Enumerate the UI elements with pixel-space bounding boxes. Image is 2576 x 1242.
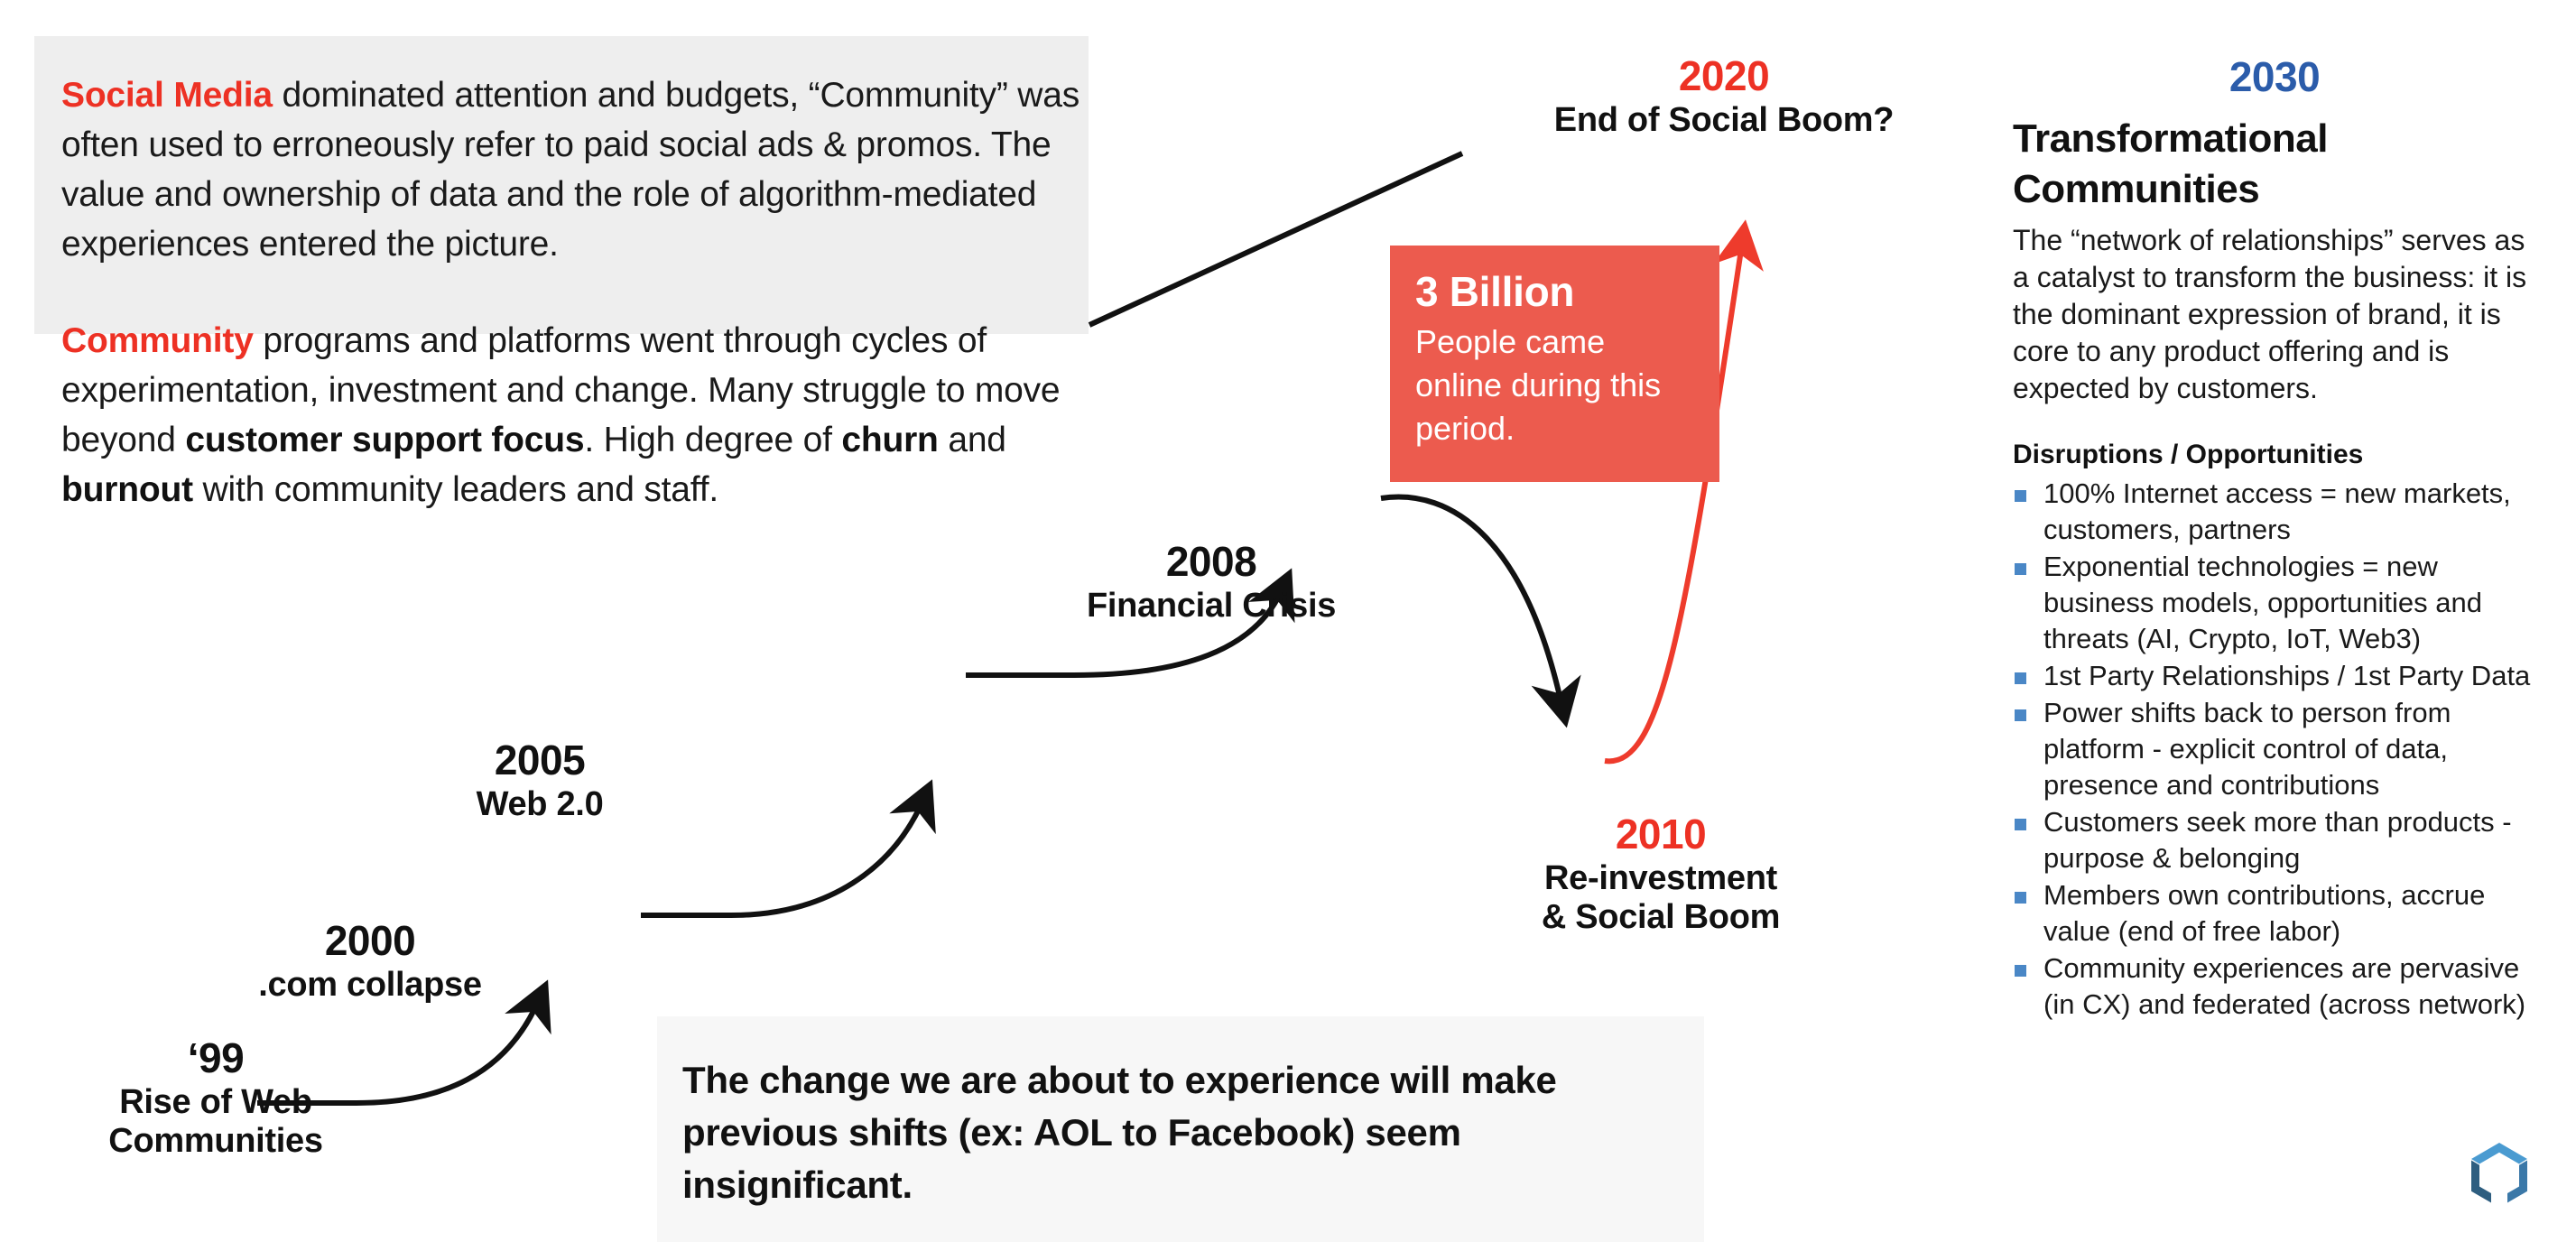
- future-title: Transformational Communities: [2013, 114, 2536, 215]
- future-column: 2030 Transformational Communities The “n…: [2013, 56, 2536, 1024]
- timeline-desc-2000: .com collapse: [117, 966, 623, 1005]
- timeline-desc-2005: Web 2.0: [287, 785, 792, 824]
- list-item-label: Community experiences are pervasive (in …: [2043, 952, 2525, 1020]
- list-item-label: Customers seek more than products - purp…: [2043, 806, 2512, 874]
- future-year-2030: 2030: [2013, 56, 2536, 97]
- list-item-label: Power shifts back to person from platfor…: [2043, 697, 2451, 801]
- timeline-desc-1999-line2: Communities: [0, 1122, 431, 1161]
- stat-value: 3 Billion: [1415, 269, 1694, 315]
- square-bullet-icon: [2015, 672, 2026, 684]
- timeline-desc-1999-line1: Rise of Web: [0, 1083, 431, 1122]
- slide-canvas: Social Media dominated attention and bud…: [0, 0, 2576, 1242]
- list-item: 100% Internet access = new markets, cust…: [2013, 476, 2536, 548]
- list-item: Customers seek more than products - purp…: [2013, 804, 2536, 876]
- timeline-node-2005: 2005 Web 2.0: [287, 738, 792, 824]
- narrative-paragraph-social-media: Social Media dominated attention and bud…: [61, 70, 1108, 269]
- list-item-label: Members own contributions, accrue value …: [2043, 879, 2485, 947]
- narrative-para2-seg3: and: [939, 421, 1006, 459]
- timeline-year-2005: 2005: [287, 738, 792, 782]
- timeline-desc-2008: Financial Crisis: [959, 587, 1464, 626]
- list-item: Community experiences are pervasive (in …: [2013, 950, 2536, 1023]
- square-bullet-icon: [2015, 965, 2026, 977]
- timeline-year-2020: 2020: [1471, 54, 1977, 97]
- future-bullet-list: 100% Internet access = new markets, cust…: [2013, 476, 2536, 1023]
- square-bullet-icon: [2015, 819, 2026, 830]
- list-item: Exponential technologies = new business …: [2013, 549, 2536, 657]
- list-item-label: Exponential technologies = new business …: [2043, 551, 2482, 654]
- narrative-para2-seg4: with community leaders and staff.: [193, 470, 718, 509]
- callout-text: The change we are about to experience wi…: [682, 1054, 1684, 1211]
- timeline-node-2010: 2010 Re-investment & Social Boom: [1408, 812, 1913, 936]
- list-item: 1st Party Relationships / 1st Party Data: [2013, 658, 2536, 694]
- square-bullet-icon: [2015, 709, 2026, 721]
- square-bullet-icon: [2015, 892, 2026, 904]
- stat-box-3-billion: 3 Billion People came online during this…: [1390, 246, 1719, 482]
- list-item-label: 1st Party Relationships / 1st Party Data: [2043, 660, 2530, 691]
- future-subhead-disruptions: Disruptions / Opportunities: [2013, 438, 2536, 472]
- highlight-social-media: Social Media: [61, 76, 273, 115]
- list-item: Members own contributions, accrue value …: [2013, 877, 2536, 950]
- timeline-desc-2010-line2: & Social Boom: [1408, 898, 1913, 937]
- narrative-text: Social Media dominated attention and bud…: [61, 70, 1108, 514]
- timeline-year-2000: 2000: [117, 919, 623, 962]
- list-item: Power shifts back to person from platfor…: [2013, 695, 2536, 803]
- bold-customer-support-focus: customer support focus: [185, 421, 584, 459]
- timeline-desc-2020: End of Social Boom?: [1471, 101, 1977, 140]
- list-item-label: 100% Internet access = new markets, cust…: [2043, 477, 2511, 545]
- timeline-year-2008: 2008: [959, 540, 1464, 583]
- square-bullet-icon: [2015, 490, 2026, 502]
- timeline-node-2008: 2008 Financial Crisis: [959, 540, 1464, 626]
- cube-logo-icon: [2469, 1141, 2529, 1208]
- bold-burnout: burnout: [61, 470, 193, 509]
- timeline-node-2000: 2000 .com collapse: [117, 919, 623, 1005]
- timeline-node-2020: 2020 End of Social Boom?: [1471, 54, 1977, 140]
- timeline-year-1999: ‘99: [0, 1036, 431, 1080]
- timeline-year-2010: 2010: [1408, 812, 1913, 856]
- timeline-node-1999: ‘99 Rise of Web Communities: [0, 1036, 431, 1160]
- timeline-desc-2010-line1: Re-investment: [1408, 859, 1913, 898]
- future-body: The “network of relationships” serves as…: [2013, 222, 2536, 407]
- square-bullet-icon: [2015, 563, 2026, 575]
- narrative-paragraph-community: Community programs and platforms went th…: [61, 316, 1108, 514]
- bold-churn: churn: [841, 421, 938, 459]
- stat-label: People came online during this period.: [1415, 320, 1694, 450]
- narrative-para2-seg2: . High degree of: [584, 421, 841, 459]
- highlight-community: Community: [61, 321, 254, 360]
